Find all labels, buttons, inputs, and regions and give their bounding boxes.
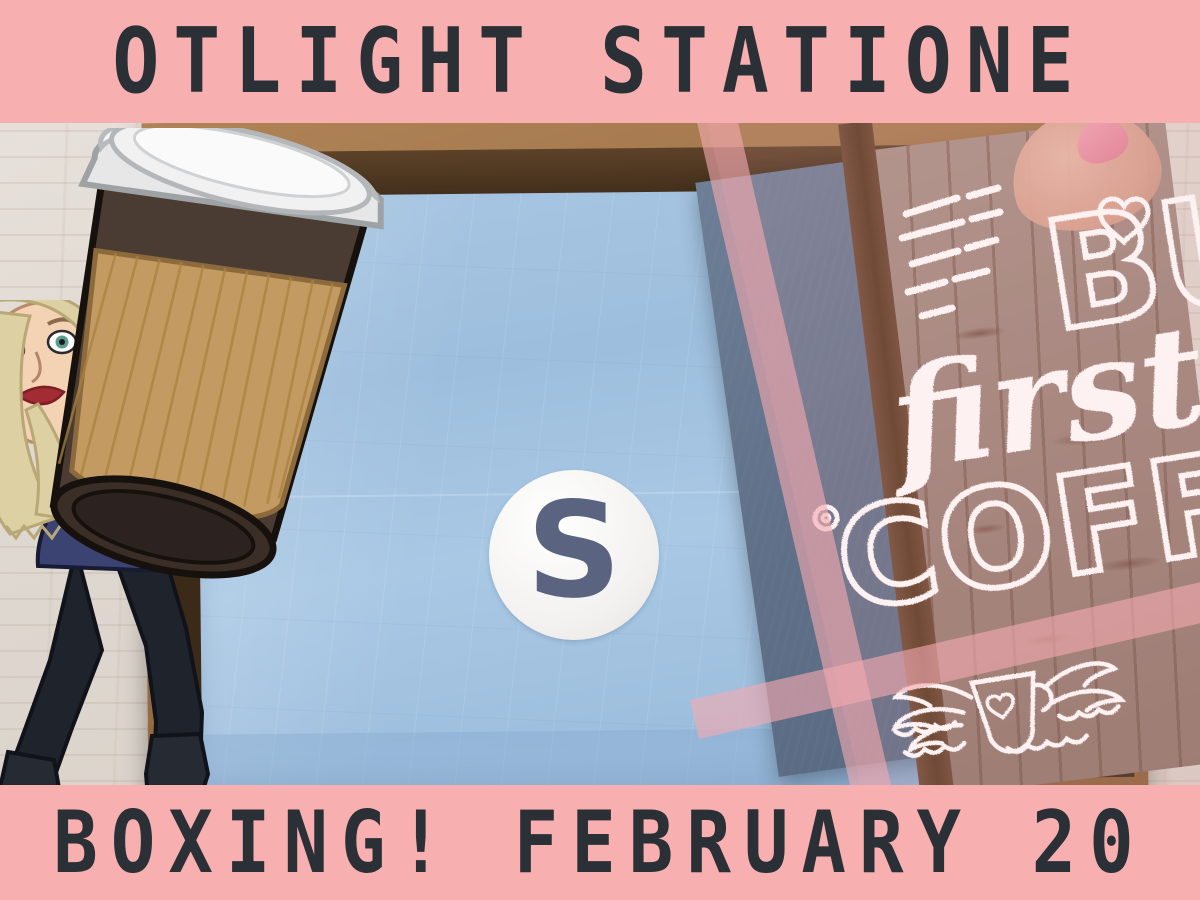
sticker-letter: S xyxy=(526,485,621,617)
s-logo-sticker: S xyxy=(489,470,659,640)
top-title-text: OTLIGHT STATIONE xyxy=(112,16,1087,106)
giant-coffee-cup xyxy=(8,128,398,628)
thumbnail-canvas: SPOTLIGHT STATIONERY CO S xyxy=(0,0,1200,900)
photo-background: SPOTLIGHT STATIONERY CO S xyxy=(0,0,1200,900)
top-title-banner: OTLIGHT STATIONE xyxy=(0,0,1200,123)
bottom-title-text: BOXING! FEBRUARY 20 xyxy=(53,800,1146,886)
bottom-title-banner: BOXING! FEBRUARY 20 xyxy=(0,785,1200,900)
